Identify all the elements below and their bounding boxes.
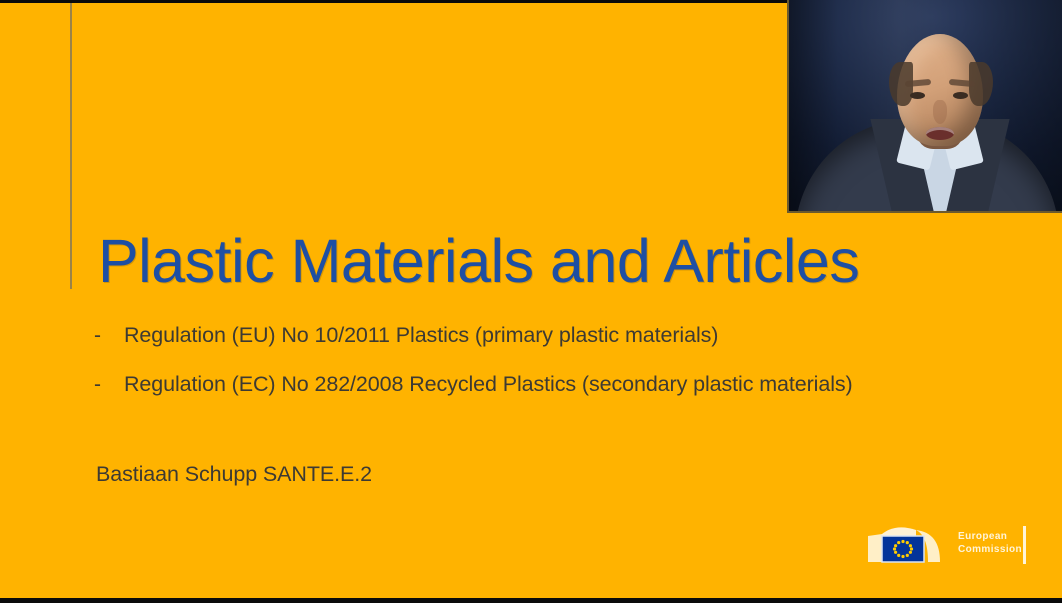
list-item: - Regulation (EU) No 10/2011 Plastics (p… — [94, 323, 1054, 348]
list-item-label: Regulation (EU) No 10/2011 Plastics (pri… — [124, 323, 718, 348]
list-item: - Regulation (EC) No 282/2008 Recycled P… — [94, 372, 1054, 397]
speaker-video-tile[interactable] — [787, 0, 1062, 213]
speaker-eye-left — [910, 92, 925, 99]
bullet-dash-icon: - — [94, 373, 124, 397]
logo-divider-bar — [1023, 526, 1026, 564]
european-commission-logo: European Commission — [866, 522, 1026, 570]
eu-flag-icon — [866, 522, 954, 570]
presentation-screen: Plastic Materials and Articles - Regulat… — [0, 0, 1062, 603]
page-title: Plastic Materials and Articles — [98, 231, 859, 292]
logo-line-european: European — [958, 530, 1022, 543]
list-item-label: Regulation (EC) No 282/2008 Recycled Pla… — [124, 372, 853, 397]
speaker-nose — [933, 100, 947, 124]
speaker-eye-right — [953, 92, 968, 99]
bullet-dash-icon: - — [94, 324, 124, 348]
decorative-vertical-rule — [70, 3, 72, 289]
author-line: Bastiaan Schupp SANTE.E.2 — [96, 462, 372, 487]
logo-wordmark: European Commission — [958, 530, 1022, 556]
bullet-list: - Regulation (EU) No 10/2011 Plastics (p… — [94, 323, 1054, 421]
logo-line-commission: Commission — [958, 543, 1022, 556]
speaker-mouth — [926, 127, 954, 140]
bottom-letterbox-strip — [0, 598, 1062, 603]
